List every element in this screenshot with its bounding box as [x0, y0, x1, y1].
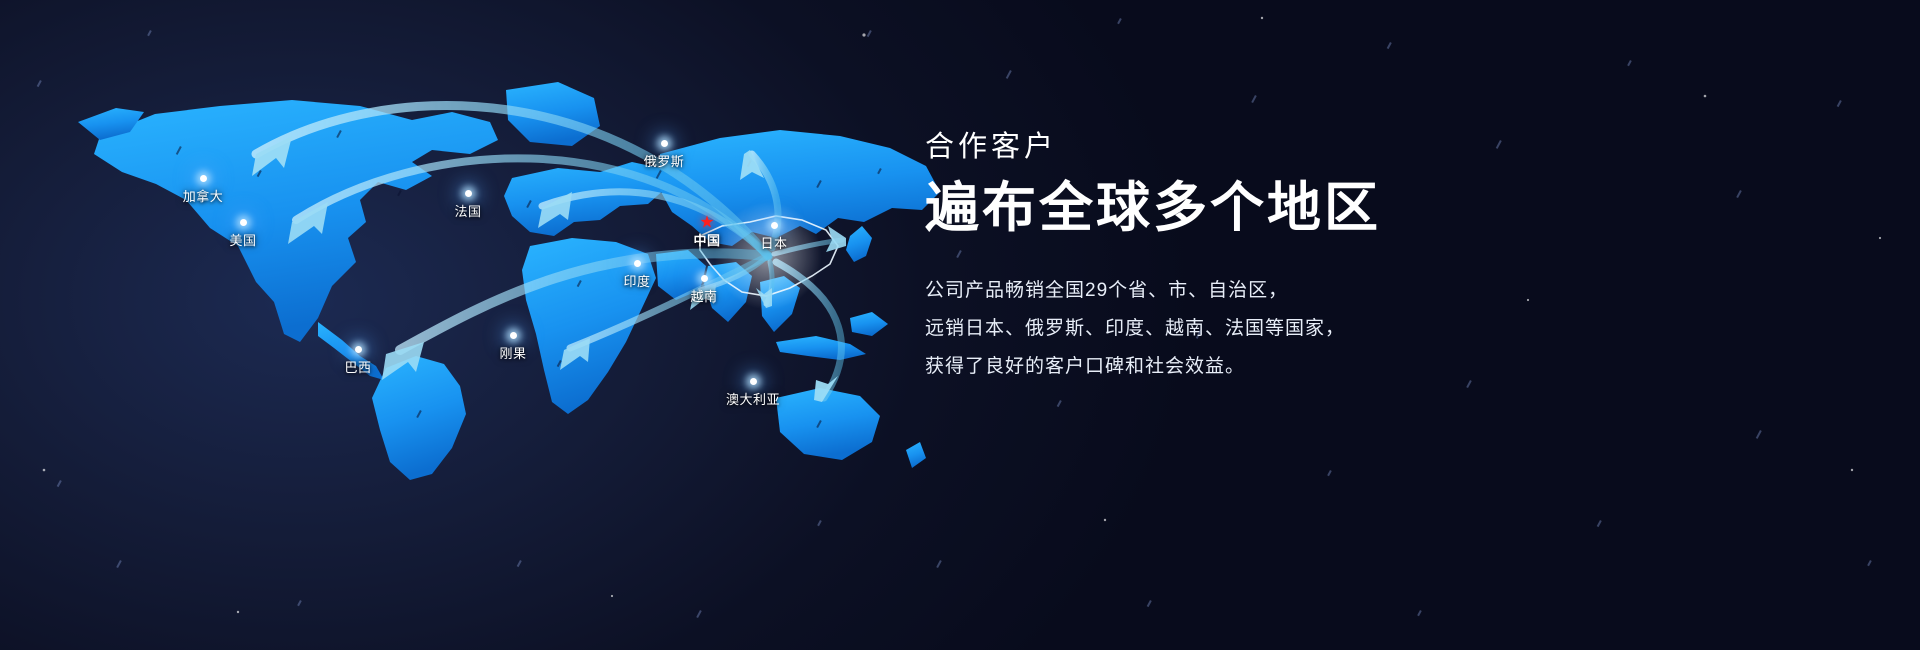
body-line: 公司产品畅销全国29个省、市、自治区，	[925, 272, 1645, 310]
body-copy: 公司产品畅销全国29个省、市、自治区，远销日本、俄罗斯、印度、越南、法国等国家，…	[925, 272, 1645, 386]
copy-block: 合作客户 遍布全球多个地区 公司产品畅销全国29个省、市、自治区，远销日本、俄罗…	[925, 132, 1645, 386]
body-line: 远销日本、俄罗斯、印度、越南、法国等国家，	[925, 310, 1645, 348]
body-line: 获得了良好的客户口碑和社会效益。	[925, 348, 1645, 386]
eyebrow-heading: 合作客户	[925, 132, 1645, 164]
global-clients-banner: 加拿大美国巴西法国刚果俄罗斯印度★中国日本越南澳大利亚 合作客户 遍布全球多个地…	[0, 0, 1920, 650]
world-map: 加拿大美国巴西法国刚果俄罗斯印度★中国日本越南澳大利亚	[60, 50, 960, 480]
page-title: 遍布全球多个地区	[925, 178, 1645, 238]
world-map-svg	[60, 50, 960, 480]
